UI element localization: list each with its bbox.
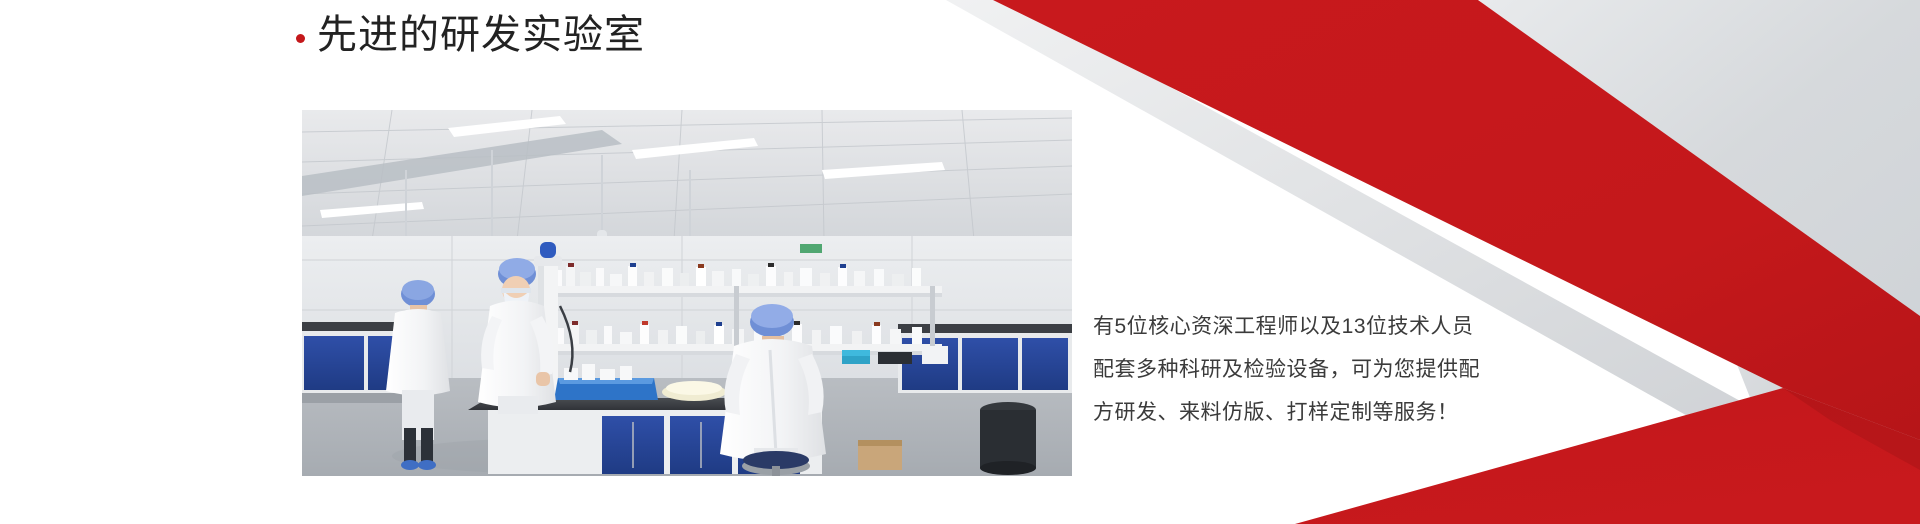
red-dot-icon [296,34,305,43]
description-line-3: 方研发、来料仿版、打样定制等服务！ [1093,402,1563,423]
ribbon-grey-band-lower [1668,190,1920,524]
lab-photo [302,110,1072,476]
description-line-2: 配套多种科研及检验设备，可为您提供配 [1093,359,1563,380]
ribbon-grey-sliver [946,0,1920,524]
lab-photo-illustration [302,110,1072,476]
ribbon-grey-band [1479,0,1920,364]
description-line-1: 有5位核心资深工程师以及13位技术人员 [1093,316,1563,337]
description-block: 有5位核心资深工程师以及13位技术人员 配套多种科研及检验设备，可为您提供配 方… [1093,316,1563,423]
page-title: 先进的研发实验室 [317,12,645,58]
hero-banner: 先进的研发实验室 [0,0,1920,524]
ribbon-fold-shadow [1783,388,1920,470]
section-heading: 先进的研发实验室 [296,12,645,58]
